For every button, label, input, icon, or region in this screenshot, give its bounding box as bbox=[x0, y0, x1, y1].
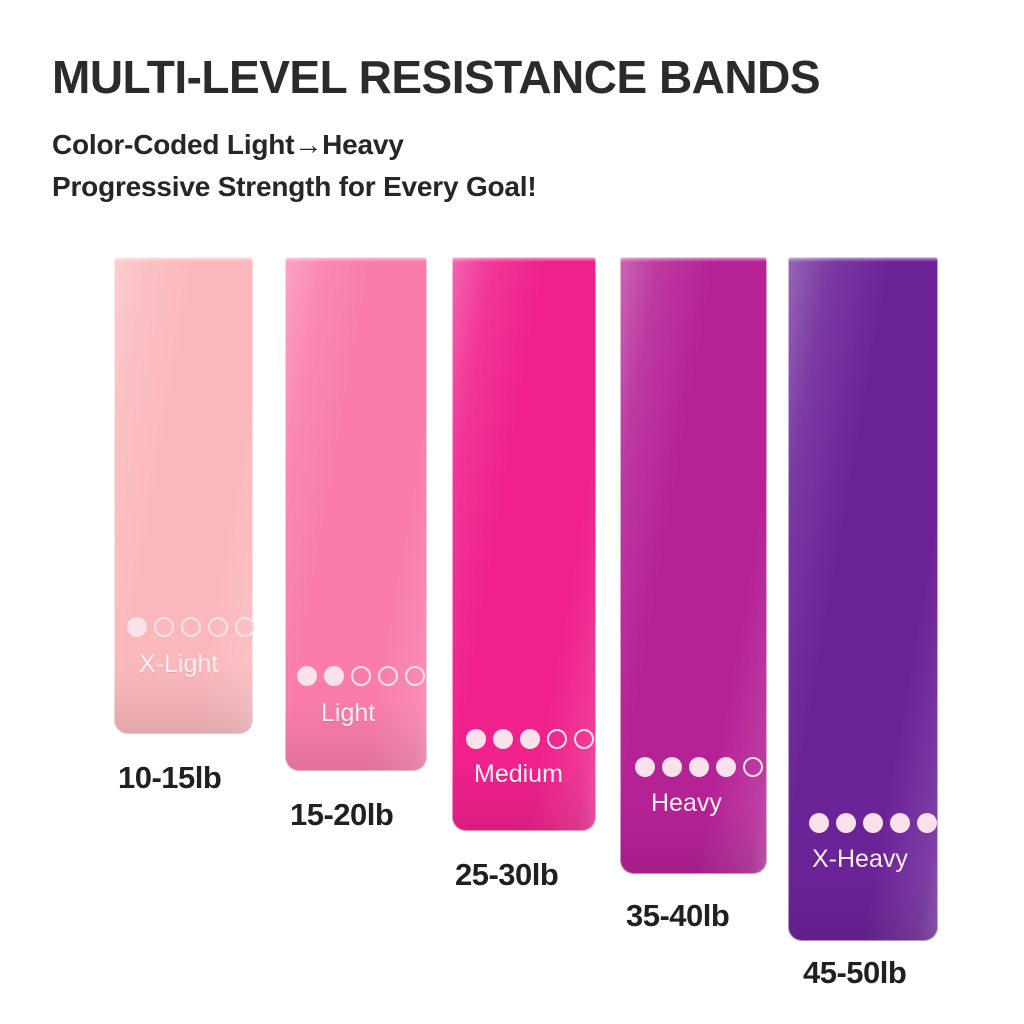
level-dot-filled bbox=[662, 757, 682, 777]
level-dot-empty bbox=[405, 666, 425, 686]
band-label-x-light: X-Light bbox=[139, 650, 218, 679]
level-dot-filled bbox=[890, 813, 910, 833]
band-top-highlight bbox=[114, 257, 253, 262]
band-weight-light: 15-20lb bbox=[290, 797, 393, 833]
level-dot-filled bbox=[917, 813, 937, 833]
band-top-highlight bbox=[452, 257, 596, 262]
level-dot-filled bbox=[716, 757, 736, 777]
level-dot-filled bbox=[324, 666, 344, 686]
band-sheen bbox=[285, 257, 427, 771]
resistance-band-x-heavy bbox=[788, 257, 938, 941]
level-dot-empty bbox=[181, 617, 201, 637]
level-dot-empty bbox=[574, 729, 594, 749]
level-dot-filled bbox=[836, 813, 856, 833]
band-weight-x-light: 10-15lb bbox=[118, 760, 221, 796]
band-label-x-heavy: X-Heavy bbox=[812, 845, 908, 874]
band-label-heavy: Heavy bbox=[651, 789, 722, 818]
level-dot-empty bbox=[235, 617, 255, 637]
band-sheen bbox=[620, 257, 767, 874]
level-dot-filled bbox=[297, 666, 317, 686]
level-dot-filled bbox=[809, 813, 829, 833]
level-dot-filled bbox=[493, 729, 513, 749]
page-title: MULTI-LEVEL RESISTANCE BANDS bbox=[52, 50, 820, 104]
band-top-highlight bbox=[788, 257, 938, 262]
level-dot-empty bbox=[154, 617, 174, 637]
level-dot-filled bbox=[635, 757, 655, 777]
band-label-light: Light bbox=[321, 699, 375, 728]
level-dot-filled bbox=[520, 729, 540, 749]
level-dot-empty bbox=[547, 729, 567, 749]
band-level-dots-x-light bbox=[127, 617, 255, 637]
band-weight-medium: 25-30lb bbox=[455, 857, 558, 893]
level-dot-empty bbox=[208, 617, 228, 637]
level-dot-filled bbox=[466, 729, 486, 749]
band-level-dots-heavy bbox=[635, 757, 763, 777]
subtitle-line-2: Progressive Strength for Every Goal! bbox=[52, 171, 537, 203]
resistance-bands-infographic: MULTI-LEVEL RESISTANCE BANDS Color-Coded… bbox=[0, 0, 1024, 1024]
band-level-dots-medium bbox=[466, 729, 594, 749]
resistance-band-light bbox=[285, 257, 427, 771]
subtitle-line-1: Color-Coded Light→Heavy bbox=[52, 129, 404, 161]
band-bottom-shadow bbox=[788, 871, 938, 941]
band-level-dots-light bbox=[297, 666, 425, 686]
level-dot-filled bbox=[689, 757, 709, 777]
band-weight-x-heavy: 45-50lb bbox=[803, 955, 906, 991]
level-dot-empty bbox=[743, 757, 763, 777]
band-top-highlight bbox=[285, 257, 427, 262]
band-weight-heavy: 35-40lb bbox=[626, 898, 729, 934]
level-dot-filled bbox=[127, 617, 147, 637]
band-level-dots-x-heavy bbox=[809, 813, 937, 833]
band-sheen bbox=[788, 257, 938, 941]
level-dot-empty bbox=[351, 666, 371, 686]
band-label-medium: Medium bbox=[474, 760, 563, 789]
resistance-band-heavy bbox=[620, 257, 767, 874]
level-dot-filled bbox=[863, 813, 883, 833]
level-dot-empty bbox=[378, 666, 398, 686]
band-top-highlight bbox=[620, 257, 767, 262]
